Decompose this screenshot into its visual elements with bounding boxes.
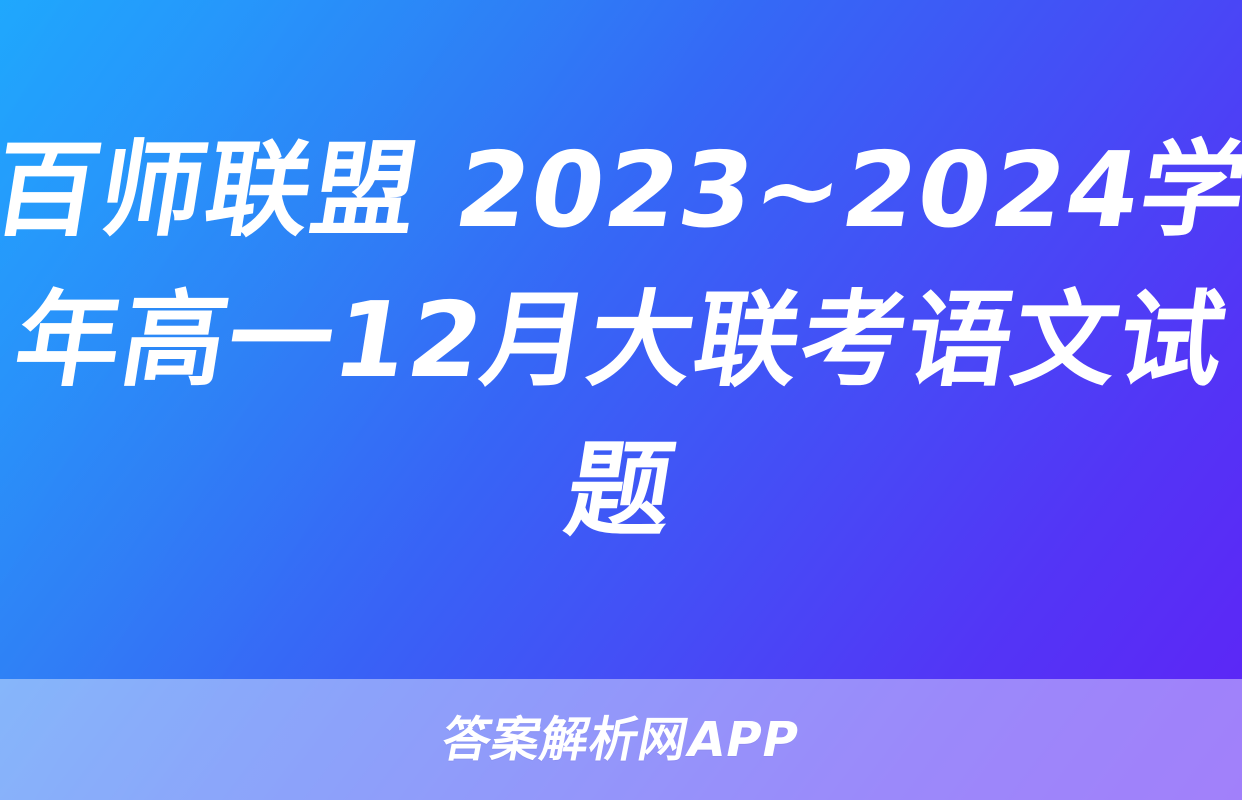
watermark-app-label: 答案解析网APP bbox=[438, 714, 804, 766]
page-title-line-3: 题 bbox=[556, 415, 686, 565]
poster-title-block: 百师联盟 2023~2024学 年高一12月大联考语文试 题 bbox=[0, 0, 1242, 679]
page-title-line-2: 年高一12月大联考语文试 bbox=[5, 265, 1237, 415]
exam-title-poster: 百师联盟 2023~2024学 年高一12月大联考语文试 题 答案解析网APP bbox=[0, 0, 1242, 800]
page-title-line-1: 百师联盟 2023~2024学 bbox=[0, 115, 1242, 265]
watermark-band: 答案解析网APP bbox=[0, 679, 1242, 800]
